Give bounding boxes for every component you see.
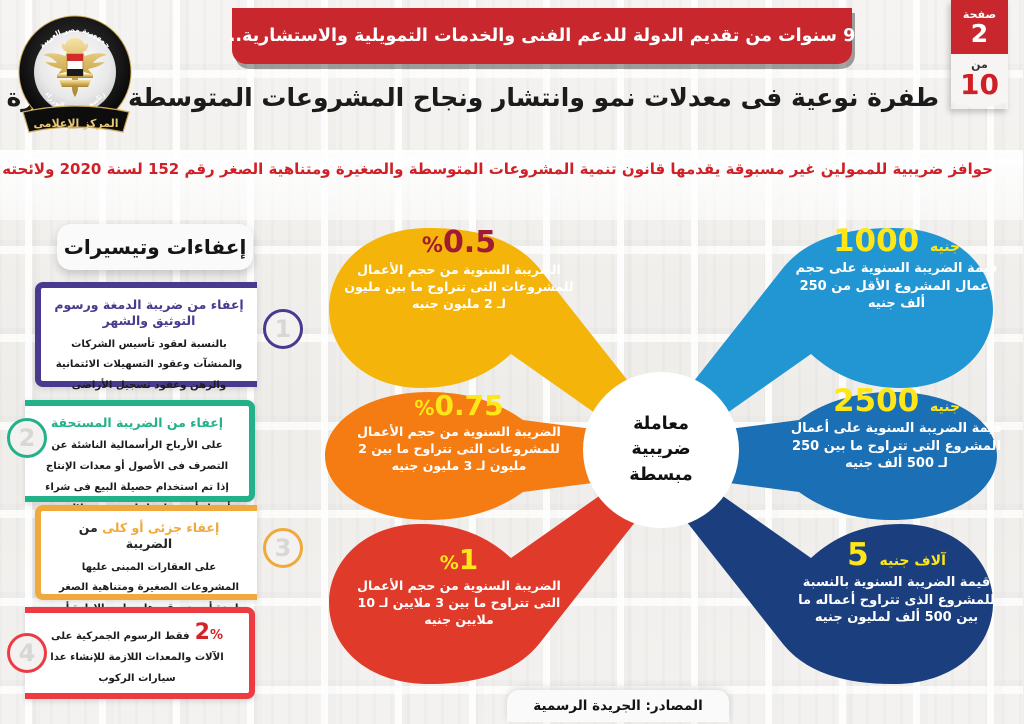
- exemption-card-4-percent: 2%: [196, 620, 224, 645]
- exemption-card-3-highlight: إعفاء جزئى أو كلى من الضريبة: [55, 520, 245, 553]
- exemption-number-2: 2: [8, 418, 48, 458]
- exemption-card-1-highlight: إعفاء من ضريبة الدمغة ورسوم التوثيق والش…: [55, 297, 245, 330]
- sources-label: المصادر: الجريدة الرسمية: [534, 698, 703, 714]
- page-badge-bottom: من 10: [952, 54, 1009, 109]
- exemptions-heading: إعفاءات وتيسيرات: [58, 224, 254, 270]
- center-line-3: مبسطة: [630, 463, 693, 488]
- page-total: 10: [952, 71, 1009, 100]
- exemption-number-4: 4: [8, 633, 48, 673]
- page-subtitle: حوافز ضريبية للممولين غير مسبوقة يقدمها …: [30, 160, 994, 178]
- center-line-2: ضريبية: [632, 437, 691, 462]
- exemption-card-2-highlight: إعفاء من الضريبة المستحقة: [39, 415, 237, 431]
- center-circle: معاملة ضريبية مبسطة: [584, 372, 740, 528]
- exemption-number-3: 3: [264, 528, 304, 568]
- exemption-card-1: إعفاء من ضريبة الدمغة ورسوم التوثيق والش…: [36, 282, 258, 387]
- center-line-1: معاملة: [634, 412, 690, 437]
- page-badge: صفحة 2 من 10: [952, 0, 1009, 109]
- exemption-card-4: 2% فقط الرسوم الجمركية على الآلات والمعد…: [26, 607, 256, 699]
- header-banner: 9 سنوات من تقديم الدولة للدعم الفنى والخ…: [233, 8, 853, 64]
- exemption-card-2: إعفاء من الضريبة المستحقة على الأرباح ال…: [26, 400, 256, 502]
- sources-footer: المصادر: الجريدة الرسمية: [508, 690, 730, 722]
- page-title: طفرة نوعية فى معدلات نمو وانتشار ونجاح ا…: [110, 82, 940, 113]
- page-badge-top: صفحة 2: [952, 0, 1009, 54]
- svg-text:المركز الإعلامى: المركز الإعلامى: [35, 117, 120, 130]
- cabinet-information-center-logo: جمهورية مصر العربية رئاسة مجلس الوزراء ا…: [14, 12, 140, 142]
- exemptions-heading-label: إعفاءات وتيسيرات: [65, 235, 248, 259]
- exemption-card-3: إعفاء جزئى أو كلى من الضريبة على العقارا…: [36, 505, 258, 600]
- header-banner-text: 9 سنوات من تقديم الدولة للدعم الفنى والخ…: [230, 26, 857, 46]
- exemption-number-1: 1: [264, 309, 304, 349]
- page-number: 2: [952, 21, 1009, 47]
- exemption-card-1-body: بالنسبة لعقود تأسيس الشركات والمنشآت وعق…: [57, 339, 244, 392]
